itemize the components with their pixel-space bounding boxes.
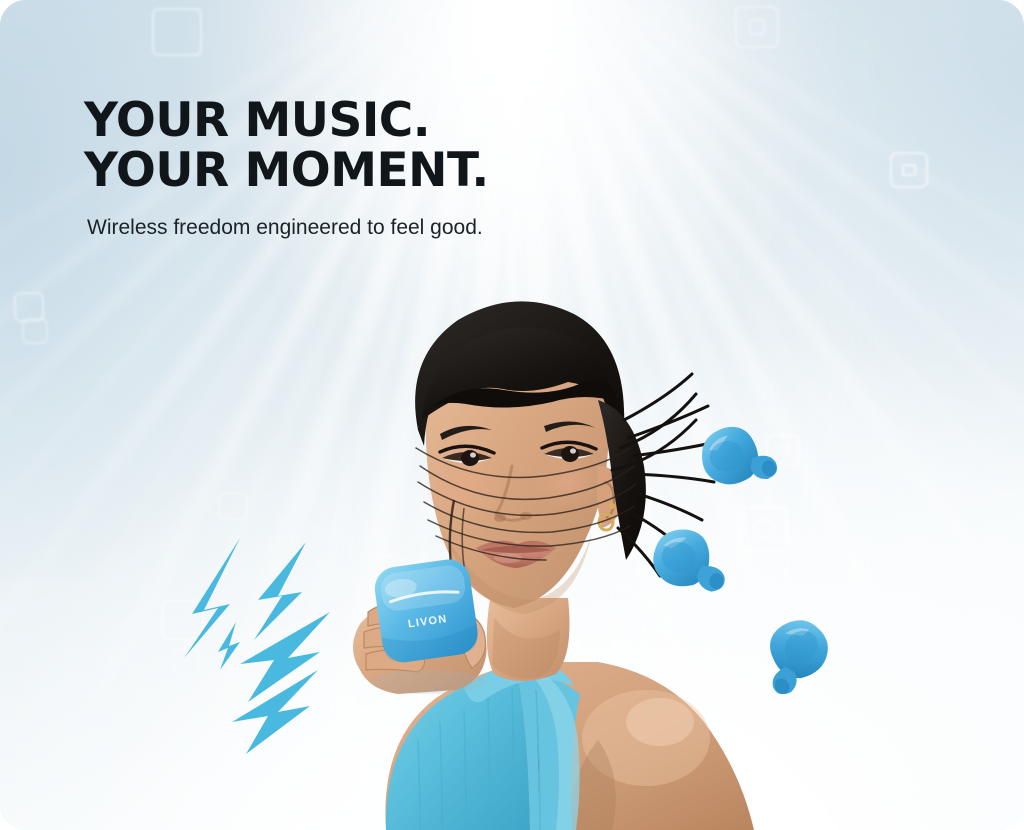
- app-badge-watermark: [890, 152, 928, 188]
- app-badge-watermark: [735, 6, 779, 48]
- app-badge-watermark: [152, 8, 202, 56]
- hero-copy-block: YOUR MUSIC. YOUR MOMENT. Wireless freedo…: [84, 96, 554, 242]
- headline-line-1: YOUR MUSIC.: [84, 93, 430, 148]
- earbud-bottom-right: [756, 618, 840, 694]
- app-badge-watermark: [22, 318, 48, 344]
- headline-line-2: YOUR MOMENT.: [84, 146, 554, 196]
- earbud-top-right: [694, 422, 778, 498]
- earbud-middle-right: [646, 526, 730, 602]
- subheadline: Wireless freedom engineered to feel good…: [87, 213, 507, 243]
- app-badge-watermark: [218, 492, 248, 520]
- hero-banner: LIVON: [0, 0, 1024, 830]
- page-title: YOUR MUSIC. YOUR MOMENT.: [84, 96, 554, 197]
